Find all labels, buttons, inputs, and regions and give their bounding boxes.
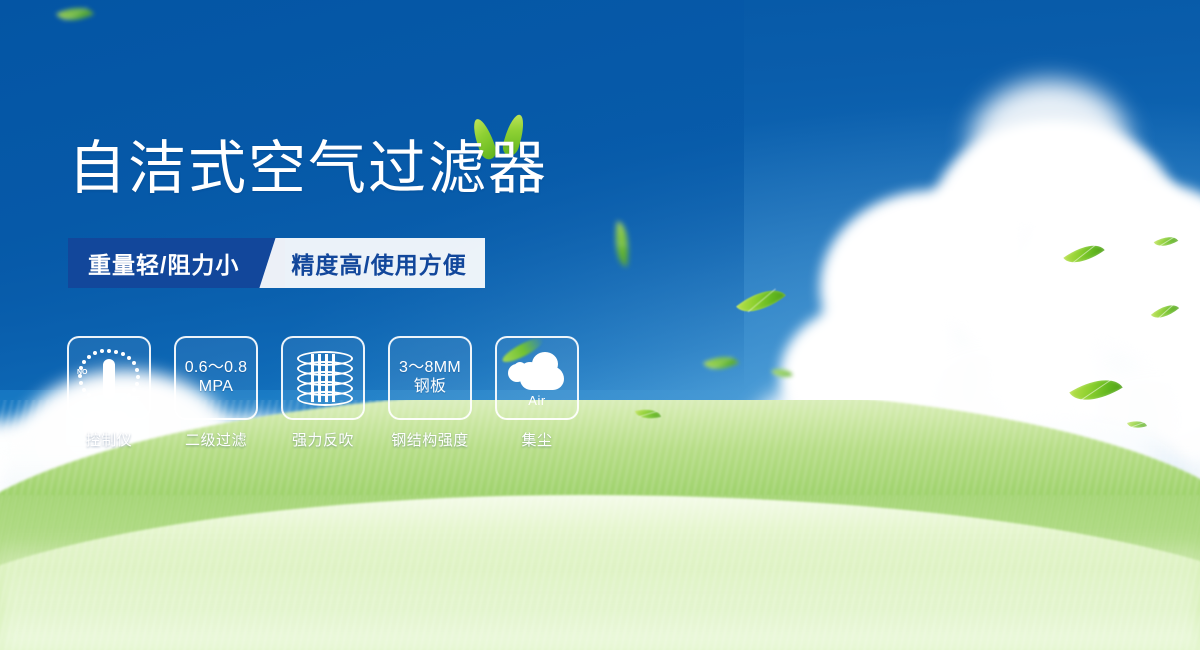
pressure-text-icon: 0.6～0.8 MPA [185, 359, 248, 397]
gauge-switch-icon: NO OFF [78, 347, 140, 409]
feature-item-backblow[interactable]: 强力反吹 [282, 336, 364, 450]
feature-label: 集尘 [521, 429, 552, 450]
feature-icon-box: Air [495, 336, 579, 420]
subtitle-divider [259, 238, 285, 288]
feature-label: 控制仪 [86, 429, 133, 450]
steel-material: 钢板 [399, 378, 461, 397]
subtitle-left-text: 重量轻/阻力小 [68, 238, 259, 288]
gauge-no-label: NO [77, 369, 88, 376]
grass-highlight [0, 530, 1200, 650]
feature-icon-box: 0.6～0.8 MPA [174, 336, 258, 420]
page-title: 自洁式空气过滤器 [68, 140, 548, 198]
pressure-unit: MPA [185, 378, 248, 397]
feature-icon-box: NO OFF [67, 336, 151, 420]
subtitle-right-text: 精度高/使用方便 [285, 238, 484, 288]
feature-icon-box [281, 336, 365, 420]
filter-cartridge-icon [295, 349, 351, 407]
subtitle-bar: 重量轻/阻力小 精度高/使用方便 [68, 238, 485, 288]
feature-item-two-stage-filter[interactable]: 0.6～0.8 MPA 二级过滤 [175, 336, 257, 450]
feature-label: 强力反吹 [292, 429, 354, 450]
steel-text-icon: 3～8MM 钢板 [399, 359, 461, 397]
air-label: Air [528, 393, 545, 408]
steel-thickness: 3～8MM [399, 359, 461, 378]
feature-label: 钢结构强度 [391, 429, 469, 450]
feature-list: NO OFF 控制仪 0.6～0.8 MPA 二级过滤 [68, 336, 578, 450]
feature-item-steel-strength[interactable]: 3～8MM 钢板 钢结构强度 [389, 336, 471, 450]
feature-item-controller[interactable]: NO OFF 控制仪 [68, 336, 150, 450]
hero-banner: 自洁式空气过滤器 重量轻/阻力小 精度高/使用方便 [0, 0, 1200, 650]
gauge-off-label: OFF [126, 396, 140, 403]
feature-icon-box: 3～8MM 钢板 [388, 336, 472, 420]
pressure-value: 0.6～0.8 [185, 359, 248, 378]
cloud-air-icon [506, 350, 568, 392]
feature-item-dust-collection[interactable]: Air 集尘 [496, 336, 578, 450]
feature-label: 二级过滤 [185, 429, 247, 450]
